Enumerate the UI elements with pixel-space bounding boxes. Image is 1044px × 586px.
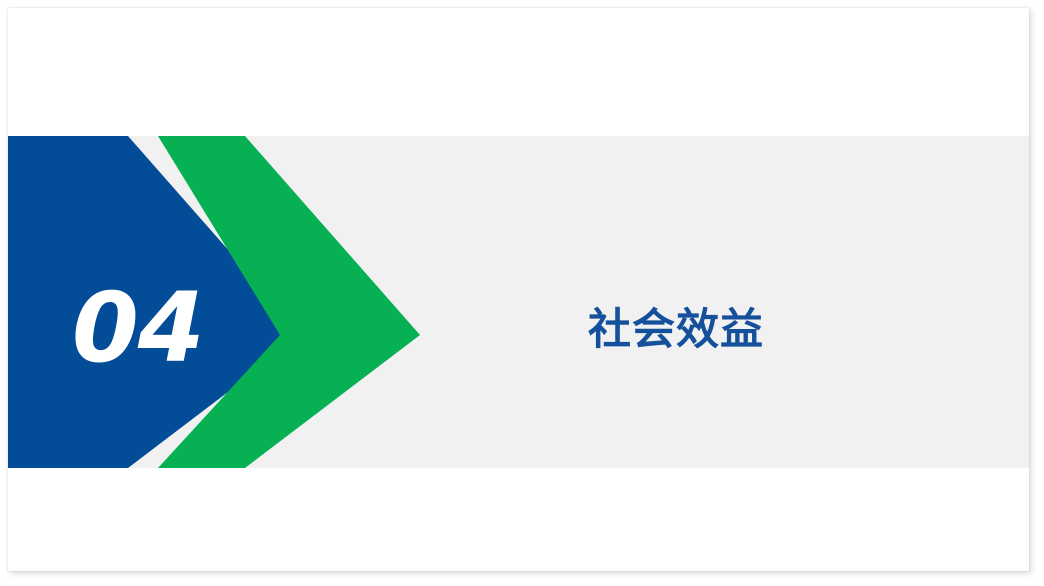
section-number: 04 — [72, 272, 222, 384]
slide-canvas: 04 社会效益 — [0, 0, 1044, 586]
section-title: 社会效益 — [588, 296, 764, 356]
presentation-slide[interactable]: 04 社会效益 — [8, 8, 1029, 571]
